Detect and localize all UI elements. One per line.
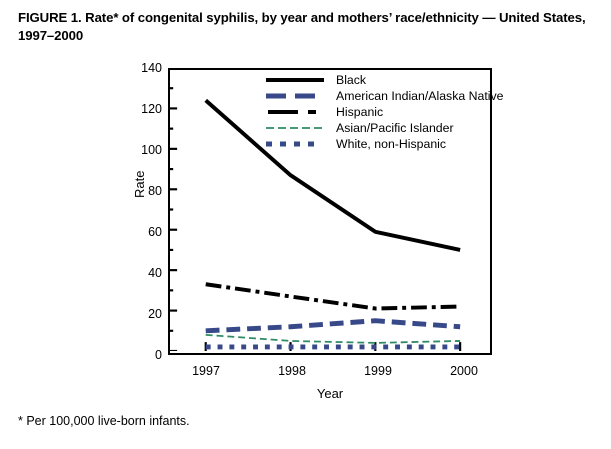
footnote: * Per 100,000 live-born infants. bbox=[18, 414, 190, 428]
y-tick-140: 140 bbox=[122, 62, 162, 74]
plot-area: Black American Indian/Alaska Native Hisp… bbox=[168, 68, 492, 355]
y-tick-0: 0 bbox=[122, 349, 162, 361]
legend-item-black[interactable]: Black bbox=[264, 72, 494, 88]
x-tick-1999: 1999 bbox=[348, 365, 408, 377]
legend-label-asian-pacific-islander: Asian/Pacific Islander bbox=[336, 121, 454, 135]
legend: Black American Indian/Alaska Native Hisp… bbox=[264, 72, 494, 152]
legend-item-hispanic[interactable]: Hispanic bbox=[264, 104, 494, 120]
y-tick-100: 100 bbox=[122, 144, 162, 156]
chart-figure: Rate 140 120 100 80 60 40 20 0 1997 1998… bbox=[0, 0, 611, 449]
x-tick-2000: 2000 bbox=[434, 365, 494, 377]
series-line-american-indian-alaska-native bbox=[206, 321, 460, 331]
y-tick-20: 20 bbox=[122, 308, 162, 320]
legend-label-black: Black bbox=[336, 73, 366, 87]
legend-key-blue-dashed-icon bbox=[264, 88, 326, 104]
y-tick-60: 60 bbox=[122, 226, 162, 238]
legend-key-blue-dotted-icon bbox=[264, 136, 326, 152]
x-tick-1997: 1997 bbox=[176, 365, 236, 377]
legend-item-american-indian-alaska-native[interactable]: American Indian/Alaska Native bbox=[264, 88, 494, 104]
legend-key-green-smalldash-icon bbox=[264, 120, 326, 136]
series-line-hispanic bbox=[206, 284, 460, 308]
series-line-asian-pacific-islander bbox=[206, 335, 460, 343]
legend-key-black-solid-icon bbox=[264, 72, 326, 88]
y-minor-ticks bbox=[168, 88, 173, 331]
legend-label-hispanic: Hispanic bbox=[336, 105, 383, 119]
y-tick-120: 120 bbox=[122, 103, 162, 115]
y-tick-40: 40 bbox=[122, 267, 162, 279]
legend-key-black-dashdot-icon bbox=[264, 104, 326, 120]
x-tick-1998: 1998 bbox=[262, 365, 322, 377]
legend-item-asian-pacific-islander[interactable]: Asian/Pacific Islander bbox=[264, 120, 494, 136]
y-tick-80: 80 bbox=[122, 185, 162, 197]
legend-label-white-non-hispanic: White, non-Hispanic bbox=[336, 137, 446, 151]
x-axis-label: Year bbox=[168, 386, 492, 401]
legend-item-white-non-hispanic[interactable]: White, non-Hispanic bbox=[264, 136, 494, 152]
legend-label-american-indian-alaska-native: American Indian/Alaska Native bbox=[336, 89, 503, 103]
